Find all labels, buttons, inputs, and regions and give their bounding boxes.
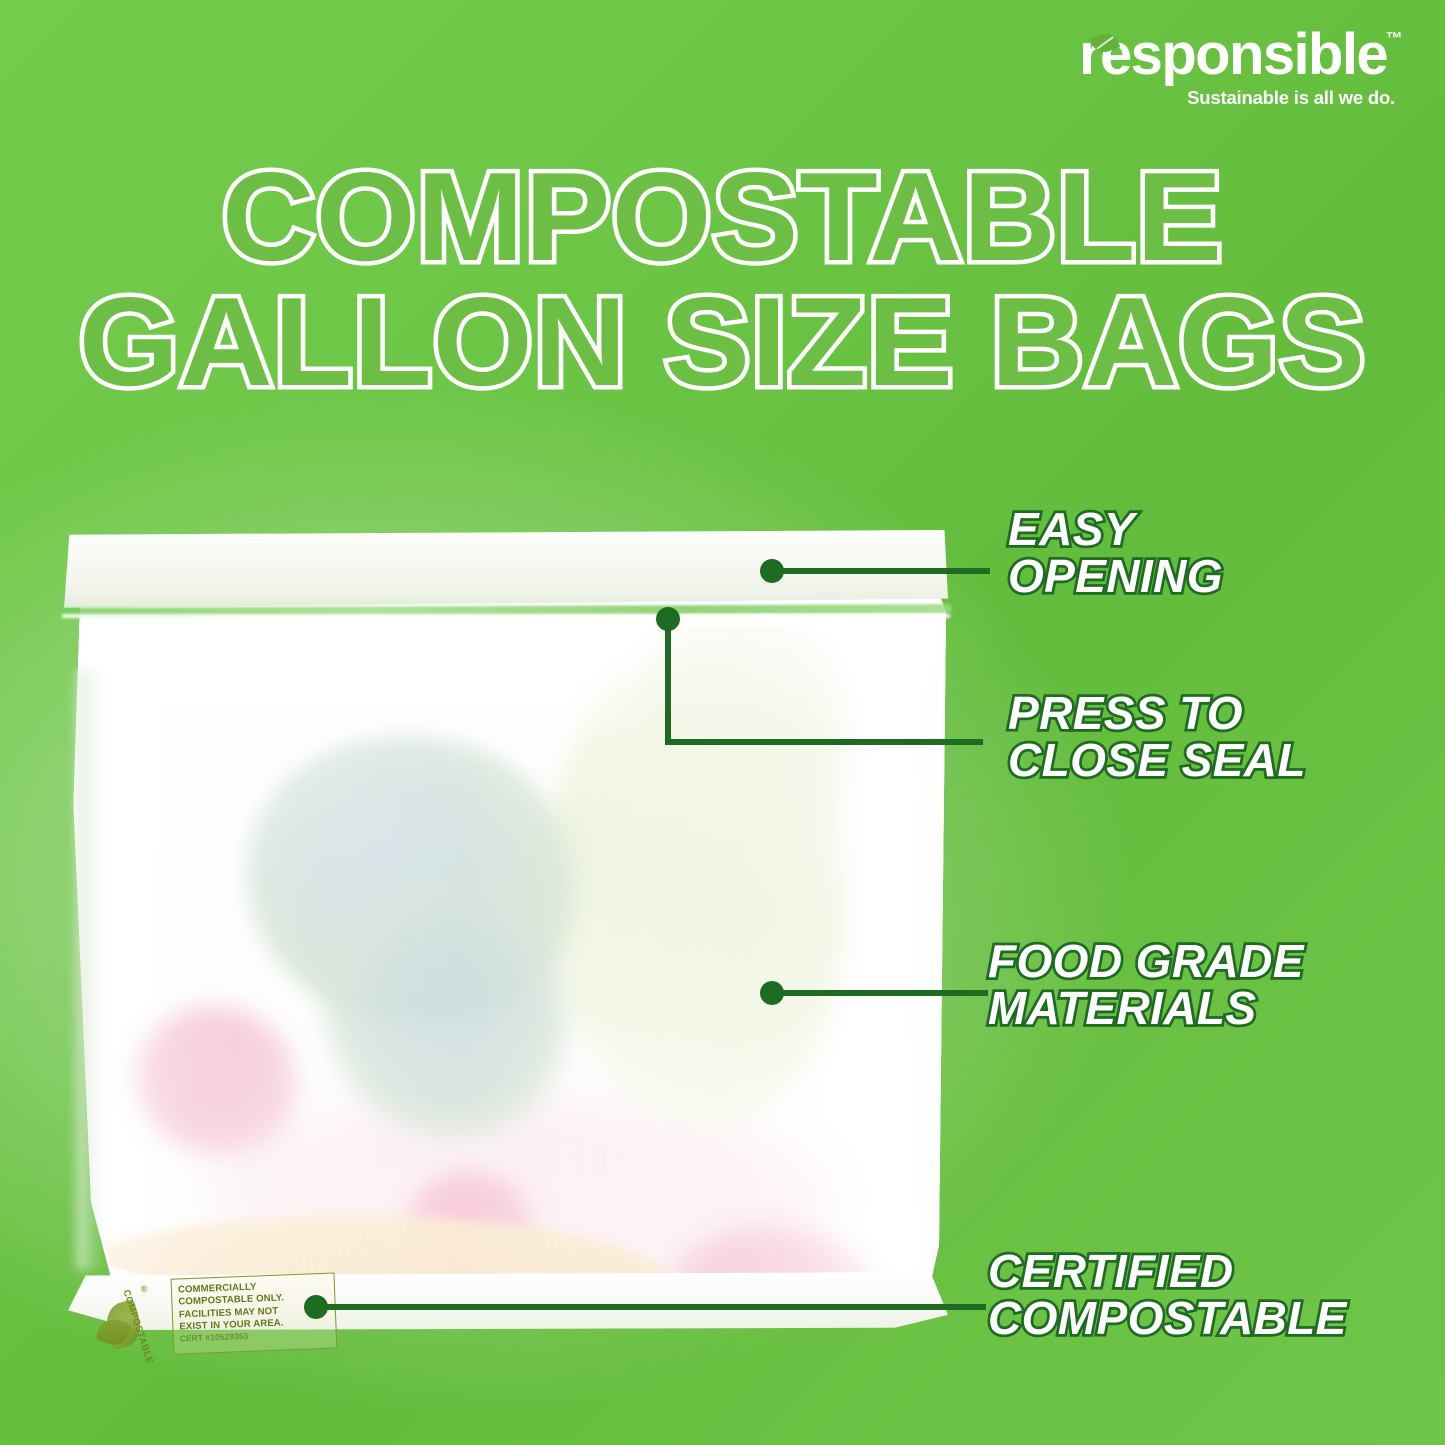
registered-mark: ® <box>141 1284 148 1294</box>
callout-press-to-close-seal: PRESS TO CLOSE SEAL <box>1008 690 1306 785</box>
callout-food-grade-materials: FOOD GRADE MATERIALS <box>988 938 1304 1033</box>
leader-dot-press-to-close <box>656 607 680 631</box>
leader-line-easy-opening <box>772 568 990 574</box>
brand-wordmark: responsible ™ <box>1079 26 1401 84</box>
bag-zipper-highlight <box>62 614 950 618</box>
headline-line-1: COMPOSTABLE <box>0 158 1445 275</box>
leader-line-food-grade <box>782 990 988 996</box>
leader-dot-food-grade <box>760 981 784 1005</box>
bpi-compostable-seedling-icon: ® COMPOSTABLE <box>97 1283 168 1360</box>
leader-dot-certified <box>304 1295 328 1319</box>
headline-line-2: GALLON SIZE BAGS <box>0 283 1445 400</box>
bag-contents <box>76 626 938 1286</box>
callout-certified-compostable: CERTIFIED COMPOSTABLE <box>988 1248 1347 1343</box>
brand-wordmark-text: responsible <box>1079 22 1387 87</box>
leader-line-certified <box>326 1304 986 1310</box>
leader-line-press-horizontal <box>665 739 983 745</box>
product-marketing-banner: responsible ™ Sustainable is all we do. … <box>0 0 1445 1445</box>
page-title: COMPOSTABLE GALLON SIZE BAGS <box>0 158 1445 400</box>
bag-crease-highlight <box>76 670 102 1270</box>
product-image-bag: ® COMPOSTABLE COMMERCIALLY COMPOSTABLE O… <box>58 530 958 1358</box>
trademark-symbol: ™ <box>1386 30 1401 47</box>
certification-label: ® COMPOSTABLE COMMERCIALLY COMPOSTABLE O… <box>97 1270 340 1361</box>
produce-radish-left <box>136 1006 296 1156</box>
brand-tagline: Sustainable is all we do. <box>1079 87 1401 109</box>
brand-logo: responsible ™ Sustainable is all we do. <box>1079 26 1401 109</box>
leader-dot-easy-opening <box>760 559 784 583</box>
produce-broccoli-lower <box>326 886 566 1136</box>
leader-line-press-vertical <box>665 617 671 745</box>
callout-easy-opening: EASY OPENING <box>1008 506 1223 601</box>
